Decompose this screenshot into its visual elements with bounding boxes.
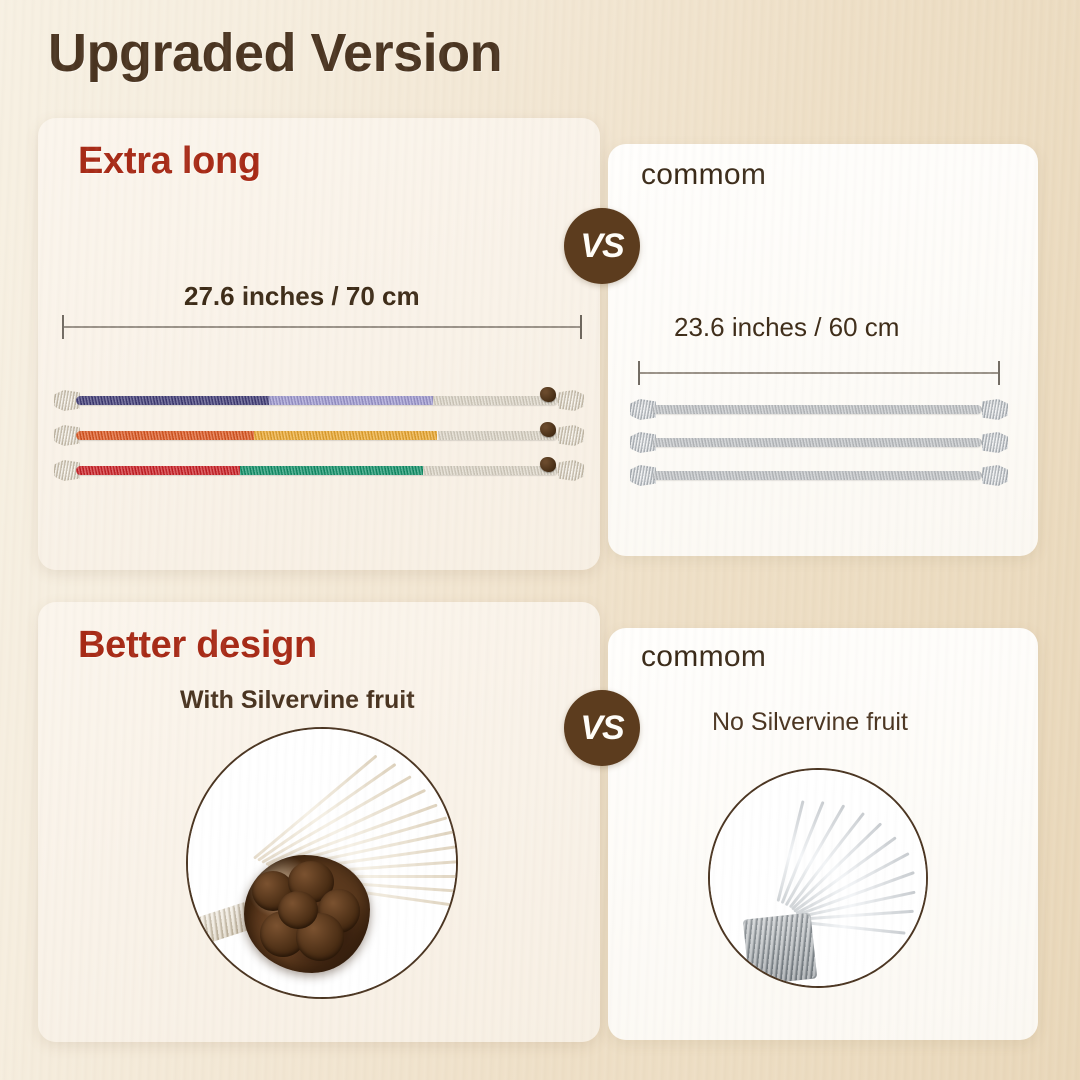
ruler-tick-left bbox=[62, 315, 64, 339]
heading-common-length: commom bbox=[641, 158, 766, 192]
rope-purple bbox=[54, 393, 584, 408]
rope-body bbox=[652, 405, 982, 414]
product-comparison-infographic: Upgraded Version Extra long 27.6 inches … bbox=[0, 0, 1080, 1080]
rope-red-green bbox=[54, 463, 584, 478]
strand-fan bbox=[734, 782, 914, 932]
rope-segment bbox=[652, 471, 982, 480]
rope-orange bbox=[54, 428, 584, 443]
rope-body bbox=[76, 466, 558, 475]
rope-segment bbox=[652, 405, 982, 414]
gray-wrap-band bbox=[743, 913, 818, 986]
tassel-illustration bbox=[188, 729, 456, 997]
ruler-tick-right bbox=[998, 361, 1000, 385]
rope-tassel-right bbox=[982, 432, 1008, 453]
rope-body bbox=[652, 471, 982, 480]
vs-badge-label: VS bbox=[580, 227, 623, 266]
rope-segment bbox=[423, 466, 558, 475]
strand bbox=[793, 836, 897, 912]
silvervine-nub bbox=[540, 422, 556, 437]
rope-body bbox=[76, 396, 558, 405]
tassel-illustration bbox=[710, 770, 926, 986]
heading-common-design: commom bbox=[641, 640, 766, 674]
measurement-label-upgraded: 27.6 inches / 70 cm bbox=[184, 281, 420, 312]
rope-gray bbox=[630, 402, 1008, 417]
ruler-bar bbox=[638, 372, 1000, 374]
rope-segment bbox=[433, 396, 558, 405]
photo-plain-tassel bbox=[708, 768, 928, 988]
silvervine-fruit bbox=[244, 855, 370, 973]
vs-badge-design: VS bbox=[564, 690, 640, 766]
ruler-bar bbox=[62, 326, 582, 328]
measurement-label-common: 23.6 inches / 60 cm bbox=[674, 312, 899, 343]
rope-body bbox=[652, 438, 982, 447]
rope-segment bbox=[240, 466, 423, 475]
fruit-lobe bbox=[278, 891, 318, 929]
rope-gray bbox=[630, 468, 1008, 483]
rope-tassel-right bbox=[982, 399, 1008, 420]
rope-tassel-right bbox=[558, 425, 584, 446]
photo-silvervine-tassel bbox=[186, 727, 458, 999]
ruler-common bbox=[638, 361, 1000, 385]
heading-better-design: Better design bbox=[78, 624, 317, 667]
page-title: Upgraded Version bbox=[48, 22, 502, 84]
strand bbox=[791, 822, 882, 910]
rope-segment bbox=[254, 431, 437, 440]
heading-extra-long: Extra long bbox=[78, 140, 261, 183]
rope-segment bbox=[269, 396, 433, 405]
caption-no-silvervine: No Silvervine fruit bbox=[712, 708, 908, 737]
silvervine-nub bbox=[540, 457, 556, 472]
card-common-design: commom No Silvervine fruit bbox=[608, 628, 1038, 1040]
card-extra-long: Extra long 27.6 inches / 70 cm bbox=[38, 118, 600, 570]
rope-segment bbox=[76, 466, 240, 475]
rope-segment bbox=[76, 396, 269, 405]
rope-segment bbox=[76, 431, 254, 440]
rope-segment bbox=[652, 438, 982, 447]
silvervine-nub bbox=[540, 387, 556, 402]
rope-tassel-right bbox=[558, 390, 584, 411]
vs-badge-length: VS bbox=[564, 208, 640, 284]
vs-badge-label: VS bbox=[580, 709, 623, 748]
ruler-tick-left bbox=[638, 361, 640, 385]
ruler-tick-right bbox=[580, 315, 582, 339]
rope-tassel-right bbox=[558, 460, 584, 481]
ruler-upgraded bbox=[62, 315, 582, 339]
rope-tassel-right bbox=[982, 465, 1008, 486]
card-better-design: Better design With Silvervine fruit bbox=[38, 602, 600, 1042]
rope-gray bbox=[630, 435, 1008, 450]
rope-body bbox=[76, 431, 558, 440]
caption-with-silvervine: With Silvervine fruit bbox=[180, 686, 415, 715]
card-common-length: commom 23.6 inches / 60 cm bbox=[608, 144, 1038, 556]
